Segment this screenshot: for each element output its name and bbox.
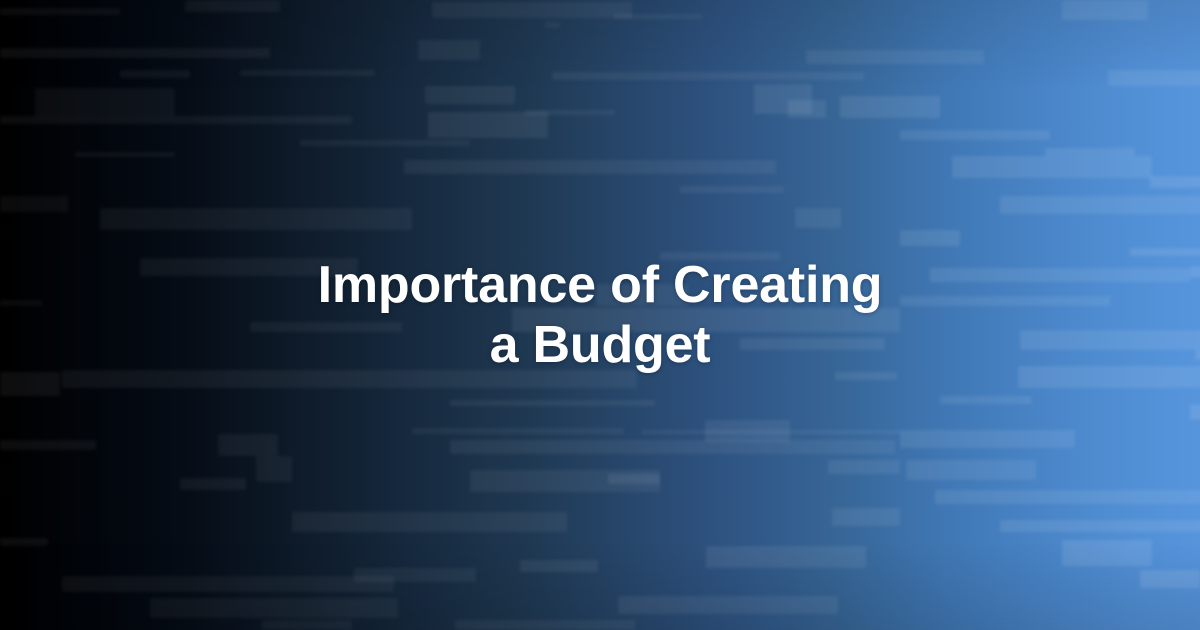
page-title: Importance of Creating a Budget: [300, 255, 900, 375]
social-share-card: Importance of Creating a Budget: [0, 0, 1200, 630]
title-container: Importance of Creating a Budget: [0, 0, 1200, 630]
